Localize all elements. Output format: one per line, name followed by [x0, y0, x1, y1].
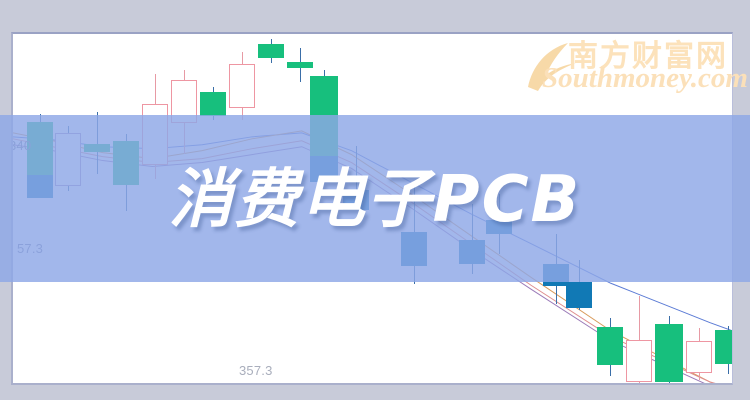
candle-body — [229, 64, 255, 108]
screenshot-stage: 340 57.3 357.3 南方财富网 Southmoney.com 消费电子… — [0, 0, 750, 400]
candle-body — [597, 327, 623, 365]
candle-body — [686, 341, 712, 373]
candle-body — [655, 324, 683, 382]
candle-body — [715, 330, 732, 364]
candle-body — [566, 282, 592, 308]
candle-body — [258, 44, 284, 58]
candle-body — [626, 340, 652, 382]
x-axis-label-bottom: 357.3 — [239, 363, 273, 378]
page-title: 消费电子PCB — [0, 160, 750, 240]
candle-body — [200, 92, 226, 116]
